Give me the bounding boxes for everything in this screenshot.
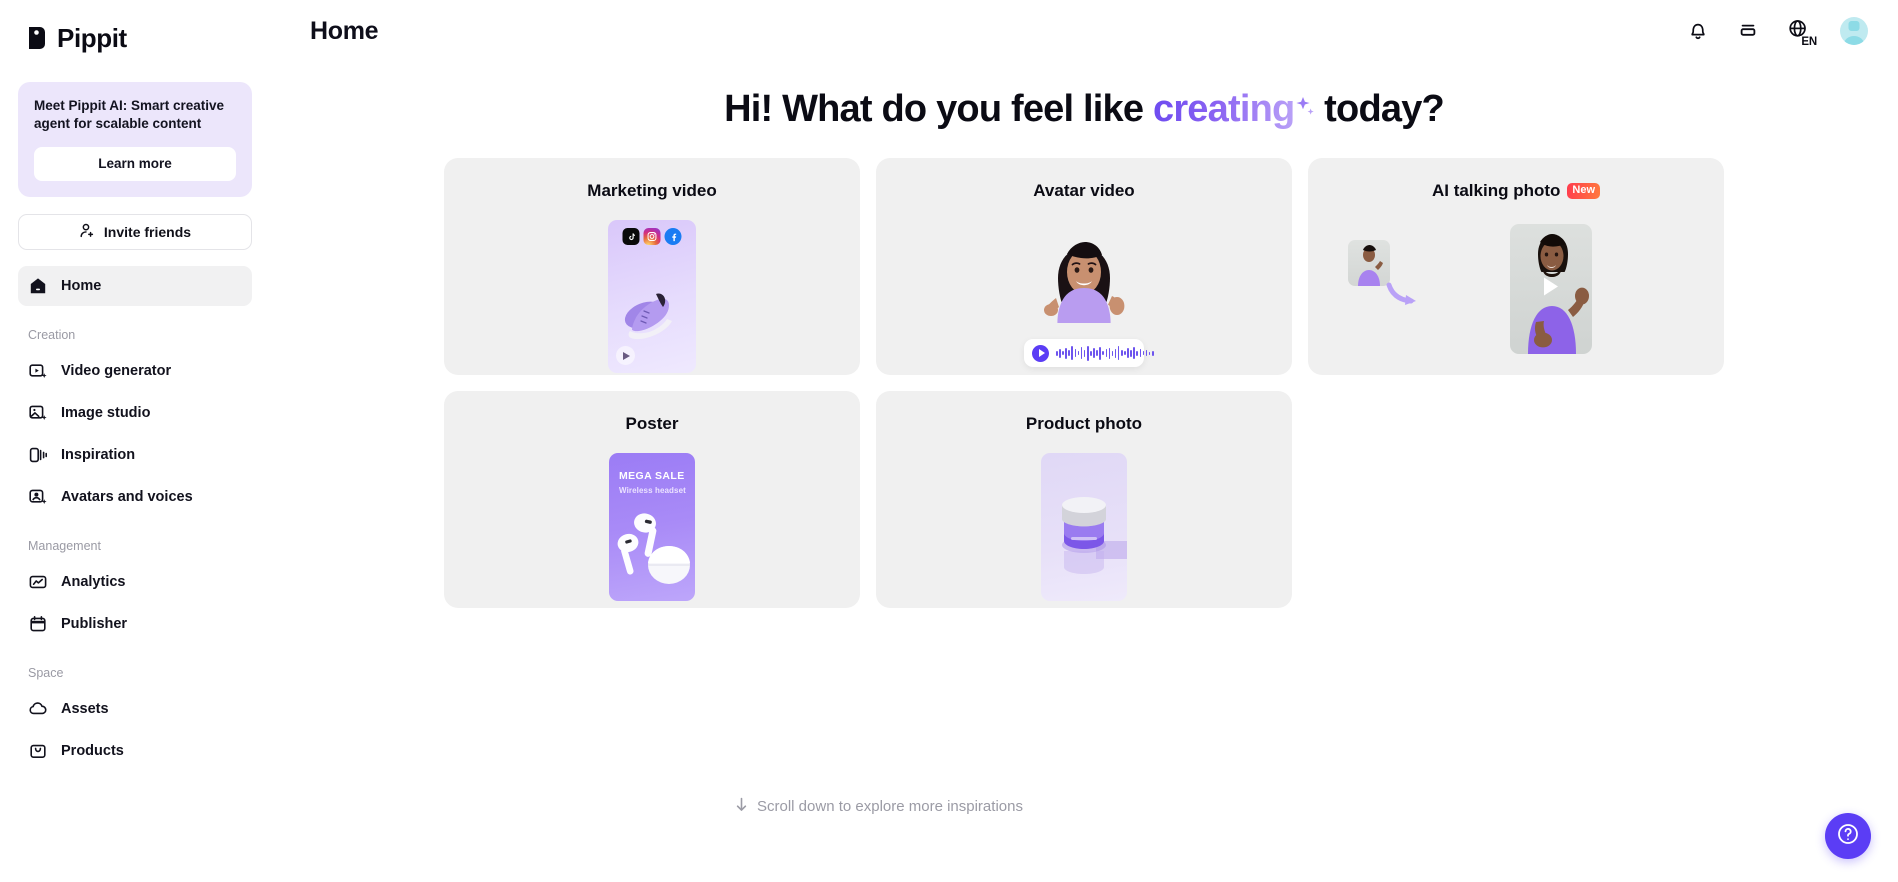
- sidebar-item-analytics[interactable]: Analytics: [18, 562, 252, 602]
- cloud-icon: [28, 699, 48, 719]
- sidebar-item-label: Video generator: [61, 363, 171, 379]
- product-preview: [1041, 453, 1127, 601]
- sidebar-section-space: Space: [18, 666, 252, 680]
- sparkle-icon: [1290, 93, 1316, 127]
- phone-preview: [608, 220, 696, 373]
- image-sparkle-icon: [28, 403, 48, 423]
- sidebar-item-label: Products: [61, 743, 124, 759]
- sidebar-nav: Home Creation Video generator: [18, 266, 252, 771]
- sidebar: Pippit Meet Pippit AI: Smart creative ag…: [0, 0, 270, 882]
- language-selector[interactable]: EN: [1786, 17, 1816, 45]
- transform-arrow-icon: [1386, 282, 1420, 308]
- help-circle-icon: [1836, 822, 1860, 851]
- person-image: [1020, 220, 1148, 348]
- brand-name: Pippit: [57, 23, 127, 54]
- home-icon: [28, 276, 48, 296]
- generated-video-preview: [1510, 224, 1592, 354]
- sidebar-item-label: Publisher: [61, 616, 127, 632]
- layers-icon[interactable]: [1736, 18, 1762, 44]
- card-poster[interactable]: Poster MEGA SALE Wireless headset: [444, 391, 860, 608]
- hero-highlight: creating: [1153, 88, 1294, 130]
- product-photo-art: [876, 453, 1292, 608]
- scroll-hint-label: Scroll down to explore more inspirations: [757, 798, 1023, 815]
- hero-suffix: today?: [1314, 88, 1444, 130]
- card-title: Avatar video: [876, 181, 1292, 201]
- play-icon[interactable]: [1032, 345, 1049, 362]
- avatar-video-art: [876, 220, 1292, 375]
- social-icons: [623, 228, 682, 245]
- sidebar-item-inspiration[interactable]: Inspiration: [18, 435, 252, 475]
- scroll-hint[interactable]: Scroll down to explore more inspirations: [735, 797, 1023, 816]
- audio-player[interactable]: [1024, 339, 1144, 367]
- sidebar-item-assets[interactable]: Assets: [18, 689, 252, 729]
- topbar-actions: EN: [1686, 17, 1868, 45]
- poster-preview: MEGA SALE Wireless headset: [609, 453, 695, 601]
- card-title: AI talking photo New: [1308, 181, 1724, 201]
- app-root: Pippit Meet Pippit AI: Smart creative ag…: [0, 0, 1898, 882]
- person-add-icon: [79, 222, 96, 242]
- video-sparkle-icon: [28, 361, 48, 381]
- tiktok-icon: [623, 228, 640, 245]
- poster-headline: MEGA SALE: [619, 470, 685, 482]
- arrow-down-icon: [735, 797, 748, 816]
- brand-logo[interactable]: Pippit: [18, 0, 252, 76]
- sidebar-item-home[interactable]: Home: [18, 266, 252, 306]
- card-product-photo[interactable]: Product photo: [876, 391, 1292, 608]
- sidebar-item-label: Avatars and voices: [61, 489, 193, 505]
- sidebar-item-image-studio[interactable]: Image studio: [18, 393, 252, 433]
- analytics-chart-icon: [28, 572, 48, 592]
- card-title: Marketing video: [444, 181, 860, 201]
- ai-talking-photo-art: [1308, 220, 1724, 375]
- status-badge: New: [1567, 183, 1600, 199]
- sidebar-item-avatars-and-voices[interactable]: Avatars and voices: [18, 477, 252, 517]
- promo-text: Meet Pippit AI: Smart creative agent for…: [34, 97, 236, 133]
- sidebar-item-video-generator[interactable]: Video generator: [18, 351, 252, 391]
- poster-subline: Wireless headset: [619, 486, 686, 495]
- sidebar-item-label: Analytics: [61, 574, 125, 590]
- hero-prefix: Hi! What do you feel like: [724, 88, 1153, 130]
- source-photo-thumbnail: [1348, 240, 1390, 286]
- play-icon[interactable]: [1541, 276, 1561, 303]
- hero-heading: Hi! What do you feel like creating today…: [270, 88, 1898, 131]
- card-title-label: Marketing video: [587, 181, 716, 201]
- language-code: EN: [1800, 36, 1818, 48]
- card-title-label: Avatar video: [1033, 181, 1134, 201]
- play-icon[interactable]: [616, 346, 635, 365]
- card-title-label: Product photo: [1026, 414, 1142, 434]
- phone-cards-icon: [28, 445, 48, 465]
- invite-friends-button[interactable]: Invite friends: [18, 214, 252, 250]
- page-title: Home: [310, 17, 378, 46]
- sidebar-item-publisher[interactable]: Publisher: [18, 604, 252, 644]
- card-avatar-video[interactable]: Avatar video: [876, 158, 1292, 375]
- pippit-logo-icon: [26, 25, 48, 51]
- card-marketing-video[interactable]: Marketing video: [444, 158, 860, 375]
- sidebar-section-management: Management: [18, 539, 252, 553]
- card-ai-talking-photo[interactable]: AI talking photo New: [1308, 158, 1724, 375]
- sidebar-item-products[interactable]: Products: [18, 731, 252, 771]
- promo-card: Meet Pippit AI: Smart creative agent for…: [18, 82, 252, 197]
- avatar[interactable]: [1840, 17, 1868, 45]
- bell-icon[interactable]: [1686, 18, 1712, 44]
- card-title: Product photo: [876, 414, 1292, 434]
- invite-friends-label: Invite friends: [104, 224, 191, 240]
- instagram-icon: [644, 228, 661, 245]
- learn-more-button[interactable]: Learn more: [34, 147, 236, 181]
- facebook-icon: [665, 228, 682, 245]
- bag-icon: [28, 741, 48, 761]
- avatar-sparkle-icon: [28, 487, 48, 507]
- feature-card-grid: Marketing video: [444, 158, 1724, 608]
- sidebar-section-creation: Creation: [18, 328, 252, 342]
- card-title-label: AI talking photo: [1432, 181, 1560, 201]
- help-button[interactable]: [1825, 813, 1871, 859]
- main-content: Home: [270, 0, 1898, 882]
- sidebar-item-label: Inspiration: [61, 447, 135, 463]
- sneaker-image: [618, 285, 686, 347]
- sidebar-item-label: Image studio: [61, 405, 150, 421]
- card-title-label: Poster: [626, 414, 679, 434]
- card-title: Poster: [444, 414, 860, 434]
- poster-art: MEGA SALE Wireless headset: [444, 453, 860, 608]
- topbar: Home: [270, 0, 1898, 62]
- waveform-icon: [1056, 345, 1154, 361]
- marketing-video-art: [444, 220, 860, 375]
- calendar-icon: [28, 614, 48, 634]
- sidebar-item-label: Home: [61, 278, 101, 294]
- sidebar-item-label: Assets: [61, 701, 109, 717]
